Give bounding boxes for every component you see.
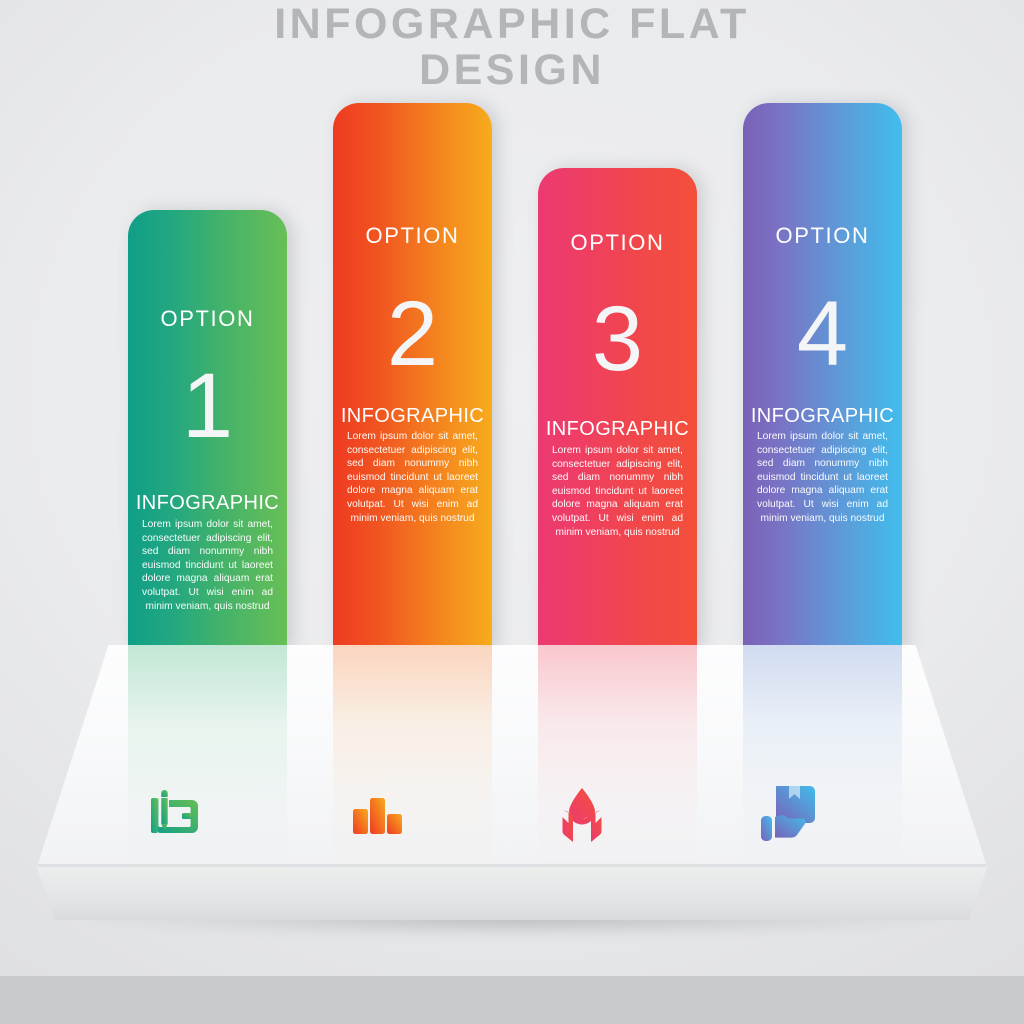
title-line-1: INFOGRAPHIC FLAT <box>0 2 1024 48</box>
pencil-note-icon[interactable] <box>136 782 208 844</box>
infographic-canvas: INFOGRAPHIC FLAT DESIGN OPTION 1 INFOGRA… <box>0 0 1024 1024</box>
option-column-2[interactable]: OPTION 2 INFOGRAPHIC Lorem ipsum dolor s… <box>333 103 492 650</box>
option-number-4: 4 <box>743 288 902 380</box>
infographic-heading-3: INFOGRAPHIC <box>538 418 697 441</box>
option-number-3: 3 <box>538 293 697 385</box>
title-line-2: DESIGN <box>0 48 1024 94</box>
option-number-1: 1 <box>128 360 287 452</box>
infographic-body-4: Lorem ipsum dolor sit amet, consectetuer… <box>757 430 888 525</box>
option-label-3: OPTION <box>538 230 697 256</box>
watermark-bar: 昵享网 www.nipic.cn ID:1529049 NO:202201280… <box>0 976 1024 1024</box>
infographic-body-1: Lorem ipsum dolor sit amet, consectetuer… <box>142 518 273 613</box>
infographic-heading-4: INFOGRAPHIC <box>743 405 902 428</box>
option-column-4[interactable]: OPTION 4 INFOGRAPHIC Lorem ipsum dolor s… <box>743 103 902 650</box>
option-label-1: OPTION <box>128 306 287 332</box>
shelf-base <box>0 867 1024 920</box>
page-title: INFOGRAPHIC FLAT DESIGN <box>0 2 1024 93</box>
option-column-1[interactable]: OPTION 1 INFOGRAPHIC Lorem ipsum dolor s… <box>128 210 287 650</box>
water-drop-hands-icon[interactable] <box>546 782 618 844</box>
option-label-4: OPTION <box>743 223 902 249</box>
option-label-2: OPTION <box>333 223 492 249</box>
infographic-body-3: Lorem ipsum dolor sit amet, consectetuer… <box>552 444 683 539</box>
option-number-2: 2 <box>333 288 492 380</box>
option-column-3[interactable]: OPTION 3 INFOGRAPHIC Lorem ipsum dolor s… <box>538 168 697 650</box>
package-delivery-icon[interactable] <box>751 782 823 844</box>
bar-chart-icon[interactable] <box>341 782 413 844</box>
infographic-heading-2: INFOGRAPHIC <box>333 405 492 428</box>
infographic-body-2: Lorem ipsum dolor sit amet, consectetuer… <box>347 430 478 525</box>
infographic-heading-1: INFOGRAPHIC <box>128 492 287 515</box>
